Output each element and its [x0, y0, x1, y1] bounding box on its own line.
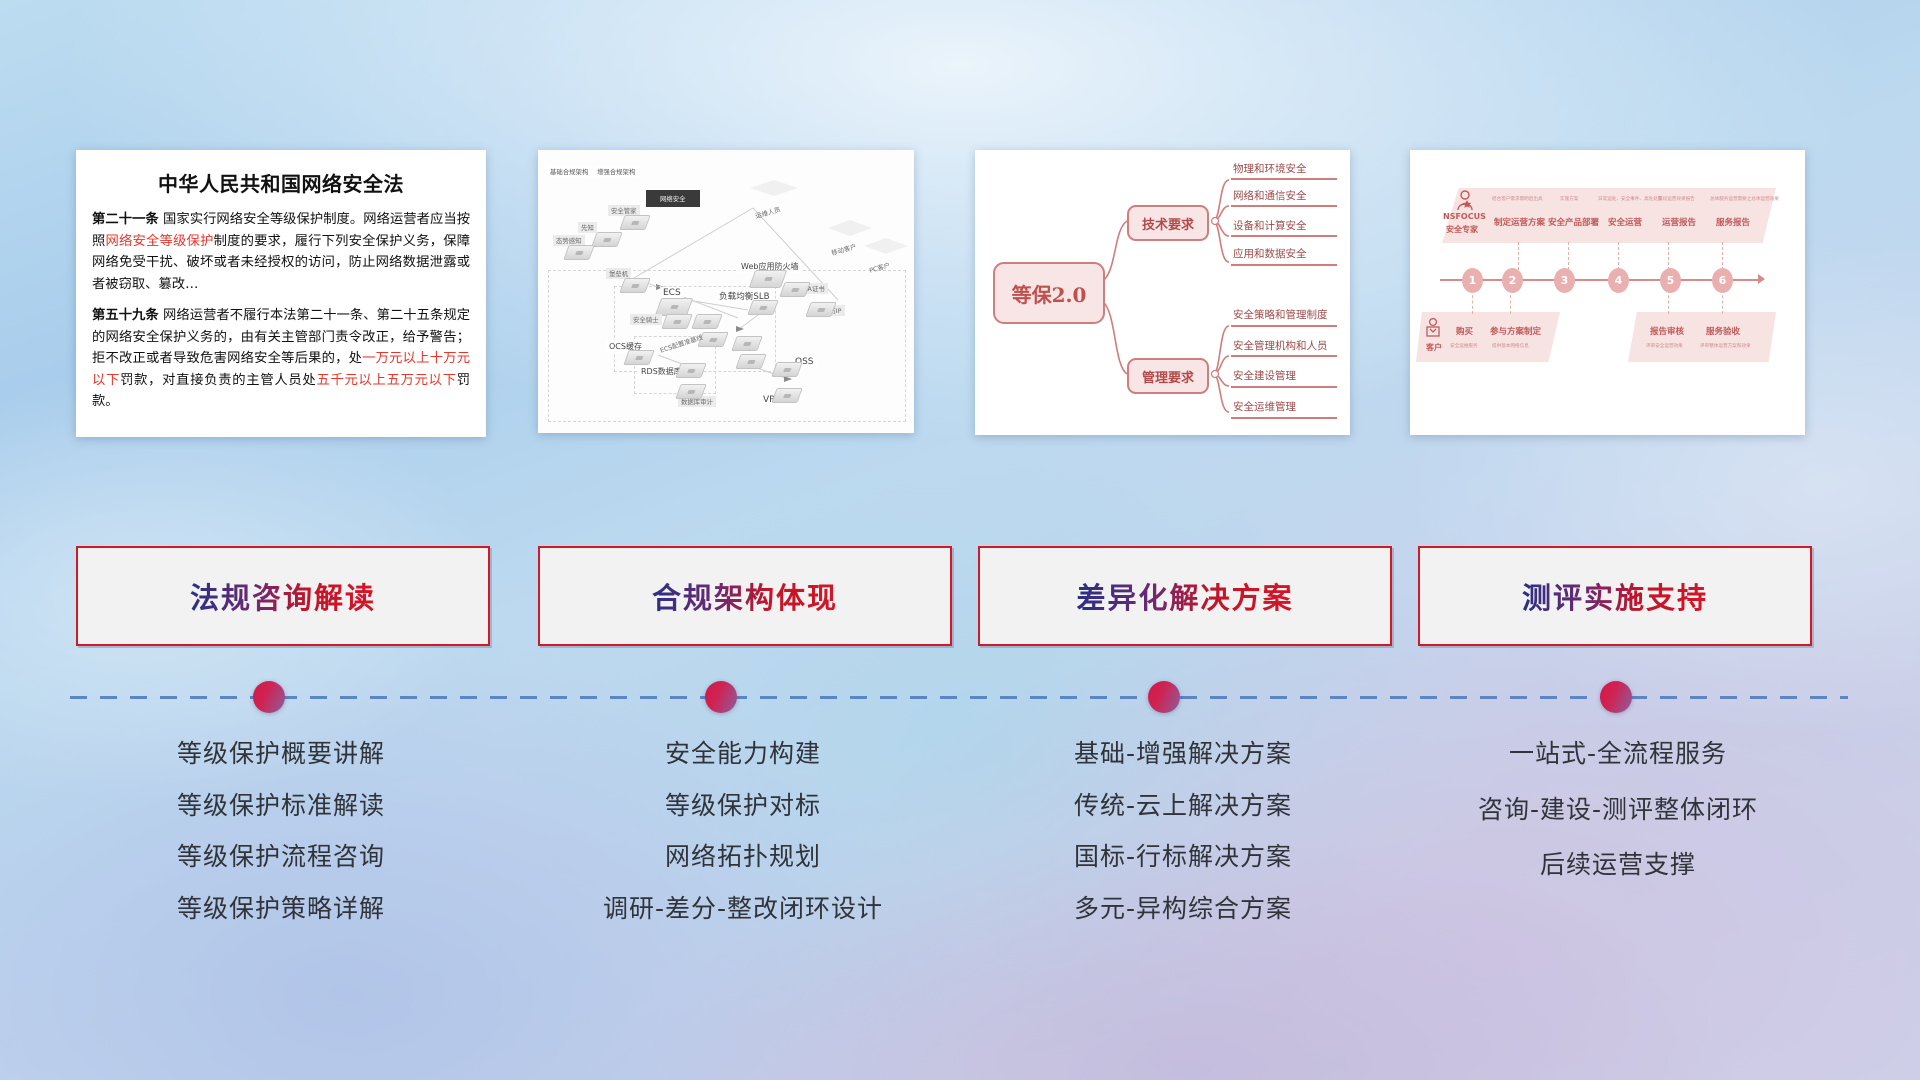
preview-cards-row: 中华人民共和国网络安全法 第二十一条 国家实行网络安全等级保护制度。网络运营者应…	[0, 150, 1920, 440]
timeline-dash-5b	[1668, 290, 1670, 314]
mindmap-leaf-tech-2: 网络和通信安全	[1233, 188, 1307, 203]
top-sub-5: 总体服务运营需要之总体运营效果	[1710, 196, 1779, 202]
bottom-title-2: 参与方案制定	[1490, 325, 1541, 337]
arch-node-anti-ddos	[805, 302, 836, 317]
headline-box-4[interactable]: 测评实施支持	[1418, 546, 1812, 646]
timeline-dash-6	[1722, 242, 1724, 270]
timeline-node-3	[1148, 681, 1180, 713]
mindmap-underline-tech-3	[1231, 235, 1337, 237]
headline-label-4: 测评实施支持	[1522, 575, 1708, 617]
list-item: 安全能力构建	[538, 740, 948, 768]
top-sub-2: 实施方案	[1560, 196, 1578, 202]
timeline-dash-3	[1568, 242, 1570, 270]
arch-node-vpc	[771, 388, 802, 403]
mindmap-leaf-mgmt-1: 安全策略和管理制度	[1233, 307, 1328, 322]
detail-list-3: 基础-增强解决方案 传统-云上解决方案 国标-行标解决方案 多元-异构综合方案	[978, 740, 1388, 946]
arch-node-situation-awareness	[563, 245, 594, 260]
article-59-text-b: 罚款，对直接负责的主管人员处	[120, 373, 316, 388]
headline-box-1[interactable]: 法规咨询解读	[76, 546, 490, 646]
timeline-dashed-line	[70, 695, 1848, 699]
mindmap-root: 等保2.0	[993, 262, 1105, 324]
mindmap: 等保2.0 技术要求 管理要求 物理和环境安全 网络和通信安全 设备和计算安全 …	[975, 150, 1350, 435]
arch-label-xianzhi: 先知	[578, 222, 597, 233]
mindmap-leaf-tech-1: 物理和环境安全	[1233, 161, 1307, 176]
law-text-body: 中华人民共和国网络安全法 第二十一条 国家实行网络安全等级保护制度。网络运营者应…	[76, 150, 486, 437]
bottom-title-1: 购买	[1456, 325, 1473, 337]
mindmap-underline-tech-1	[1231, 178, 1337, 180]
list-item: 传统-云上解决方案	[978, 792, 1388, 820]
bottom-sub-4: 评审整体运营方案和效果	[1700, 343, 1751, 349]
bottom-sub-2: 提供基本网络信息	[1492, 343, 1529, 349]
slide-root: 中华人民共和国网络安全法 第二十一条 国家实行网络安全等级保护制度。网络运营者应…	[0, 0, 1920, 1080]
arch-label-security-knight: 安全骑士	[630, 314, 662, 325]
article-59-label: 第五十九条	[92, 308, 159, 323]
timeline-step-3: 3	[1554, 268, 1575, 293]
timeline-band-bottom-right	[1628, 312, 1776, 362]
arch-node-ecs-4	[731, 336, 762, 351]
mindmap-underline-tech-2	[1231, 205, 1337, 207]
timeline-dash-5	[1668, 242, 1670, 270]
top-sub-3: 日常运处、安全事件、高危处置	[1598, 196, 1662, 202]
expert-role-line2: 安全专家	[1446, 224, 1478, 235]
timeline-dash-6b	[1722, 290, 1724, 314]
mindmap-underline-mgmt-1	[1231, 325, 1337, 327]
timeline-step-2: 2	[1502, 268, 1523, 293]
card-compliance-architecture[interactable]: 基础合规架构 增强合规架构 网络安全 安全管家 先知 态势感知 堡垒机 ECS …	[538, 150, 914, 433]
list-item: 基础-增强解决方案	[978, 740, 1388, 768]
mindmap-underline-mgmt-4	[1231, 417, 1337, 419]
list-item: 咨询-建设-测评整体闭环	[1418, 796, 1818, 824]
mindmap-leaf-mgmt-3: 安全建设管理	[1233, 368, 1296, 383]
mindmap-leaf-mgmt-2: 安全管理机构和人员	[1233, 338, 1328, 353]
card-nsfocus-service-timeline[interactable]: NSFOCUS 安全专家 结合客户需求需明后出具 制定运营方案 实施方案 安全产…	[1410, 150, 1805, 435]
mindmap-underline-mgmt-2	[1231, 355, 1337, 357]
expert-role-line1: NSFOCUS	[1443, 212, 1486, 221]
list-item: 等级保护流程咨询	[76, 843, 486, 871]
nsfocus-timeline: NSFOCUS 安全专家 结合客户需求需明后出具 制定运营方案 实施方案 安全产…	[1410, 150, 1805, 435]
article-59-highlight-b: 五千元以上五万元以下	[316, 373, 456, 388]
mindmap-branch-management: 管理要求	[1127, 358, 1209, 394]
arch-node-security-butler	[619, 215, 650, 230]
list-item: 等级保护标准解读	[76, 792, 486, 820]
top-title-5: 服务报告	[1716, 216, 1750, 228]
timeline-node-2	[705, 681, 737, 713]
timeline-node-1	[253, 681, 285, 713]
arch-node-rds	[675, 363, 706, 378]
arch-tag-network-security: 网络安全	[646, 190, 700, 207]
card-dengbao-mindmap[interactable]: 等保2.0 技术要求 管理要求 物理和环境安全 网络和通信安全 设备和计算安全 …	[975, 150, 1350, 435]
bottom-title-3: 报告审核	[1650, 325, 1684, 337]
arch-node-ca	[779, 282, 810, 297]
top-sub-1: 结合客户需求需明后出具	[1492, 196, 1543, 202]
architecture-diagram: 基础合规架构 增强合规架构 网络安全 安全管家 先知 态势感知 堡垒机 ECS …	[538, 150, 914, 433]
list-item: 等级保护策略详解	[76, 895, 486, 923]
mindmap-underline-mgmt-3	[1231, 386, 1337, 388]
list-item: 等级保护对标	[538, 792, 948, 820]
headline-label-1: 法规咨询解读	[190, 575, 376, 617]
arch-node-bastion	[619, 278, 650, 293]
bottom-sub-3: 评审安全运营效果	[1646, 343, 1683, 349]
headline-box-2[interactable]: 合规架构体现	[538, 546, 952, 646]
timeline-step-4: 4	[1608, 268, 1629, 293]
law-article-59: 第五十九条 网络运营者不履行本法第二十一条、第二十五条规定的网络安全保护义务的，…	[92, 305, 470, 413]
mindmap-leaf-mgmt-4: 安全运维管理	[1233, 399, 1296, 414]
list-item: 后续运营支撑	[1418, 851, 1818, 879]
top-title-1: 制定运营方案	[1494, 216, 1545, 228]
timeline-dash-2b	[1510, 290, 1512, 314]
expert-icon	[1454, 190, 1476, 214]
law-article-21: 第二十一条 国家实行网络安全等级保护制度。网络运营者应当按照网络安全等级保护制度…	[92, 209, 470, 295]
arch-node-ecs-5	[735, 354, 766, 369]
arch-node-ocs-cache	[623, 350, 654, 365]
top-title-3: 安全运营	[1608, 216, 1642, 228]
arch-tab-basic[interactable]: 基础合规架构	[547, 166, 591, 177]
arch-node-waf	[749, 270, 788, 288]
article-21-highlight: 网络安全等级保护	[106, 234, 214, 249]
article-21-label: 第二十一条	[92, 212, 159, 227]
bottom-title-4: 服务验收	[1706, 325, 1740, 337]
top-title-2: 安全产品部署	[1548, 216, 1599, 228]
bottom-sub-1: 安全运维服务	[1450, 343, 1478, 349]
timeline-arrow-icon	[1758, 274, 1765, 284]
arch-node-ecs-2	[691, 314, 722, 329]
arch-node-db-audit	[675, 384, 706, 399]
mindmap-leaf-tech-3: 设备和计算安全	[1233, 218, 1307, 233]
customer-icon	[1424, 318, 1442, 342]
arch-node-xianzhi	[591, 232, 622, 247]
mindmap-leaf-tech-4: 应用和数据安全	[1233, 246, 1307, 261]
card-cybersecurity-law[interactable]: 中华人民共和国网络安全法 第二十一条 国家实行网络安全等级保护制度。网络运营者应…	[76, 150, 486, 437]
timeline-step-6: 6	[1712, 268, 1733, 293]
arch-node-security-knight	[661, 314, 692, 329]
headline-label-3: 差异化解决方案	[1076, 575, 1293, 617]
headline-label-2: 合规架构体现	[652, 575, 838, 617]
mindmap-underline-tech-4	[1231, 264, 1337, 266]
top-sub-4: 阶段运营效果报告	[1658, 196, 1695, 202]
headline-row: 法规咨询解读 合规架构体现 差异化解决方案 测评实施支持	[0, 546, 1920, 642]
timeline-step-5: 5	[1660, 268, 1681, 293]
timeline-node-4	[1600, 681, 1632, 713]
list-item: 多元-异构综合方案	[978, 895, 1388, 923]
list-item: 调研-差分-整改闭环设计	[538, 895, 948, 923]
top-title-4: 运营报告	[1662, 216, 1696, 228]
list-item: 网络拓扑规划	[538, 843, 948, 871]
list-item: 国标-行标解决方案	[978, 843, 1388, 871]
customer-role-label: 客户	[1426, 342, 1442, 353]
list-item: 等级保护概要讲解	[76, 740, 486, 768]
mindmap-branch-technical: 技术要求	[1127, 205, 1209, 241]
list-item: 一站式-全流程服务	[1418, 740, 1818, 768]
timeline-dash-1b	[1472, 290, 1474, 314]
arch-node-oss	[771, 362, 802, 377]
detail-list-2: 安全能力构建 等级保护对标 网络拓扑规划 调研-差分-整改闭环设计	[538, 740, 948, 946]
detail-list-1: 等级保护概要讲解 等级保护标准解读 等级保护流程咨询 等级保护策略详解	[76, 740, 486, 946]
headline-box-3[interactable]: 差异化解决方案	[978, 546, 1392, 646]
detail-lists-row: 等级保护概要讲解 等级保护标准解读 等级保护流程咨询 等级保护策略详解 安全能力…	[0, 740, 1920, 1040]
arch-tab-enhanced[interactable]: 增强合规架构	[594, 166, 638, 177]
arch-node-slb	[747, 300, 778, 315]
timeline-dash-2	[1518, 242, 1520, 270]
timeline-step-1: 1	[1462, 268, 1483, 293]
law-title: 中华人民共和国网络安全法	[92, 168, 470, 197]
detail-list-4: 一站式-全流程服务 咨询-建设-测评整体闭环 后续运营支撑	[1418, 740, 1818, 907]
timeline-dash-4	[1618, 242, 1620, 270]
